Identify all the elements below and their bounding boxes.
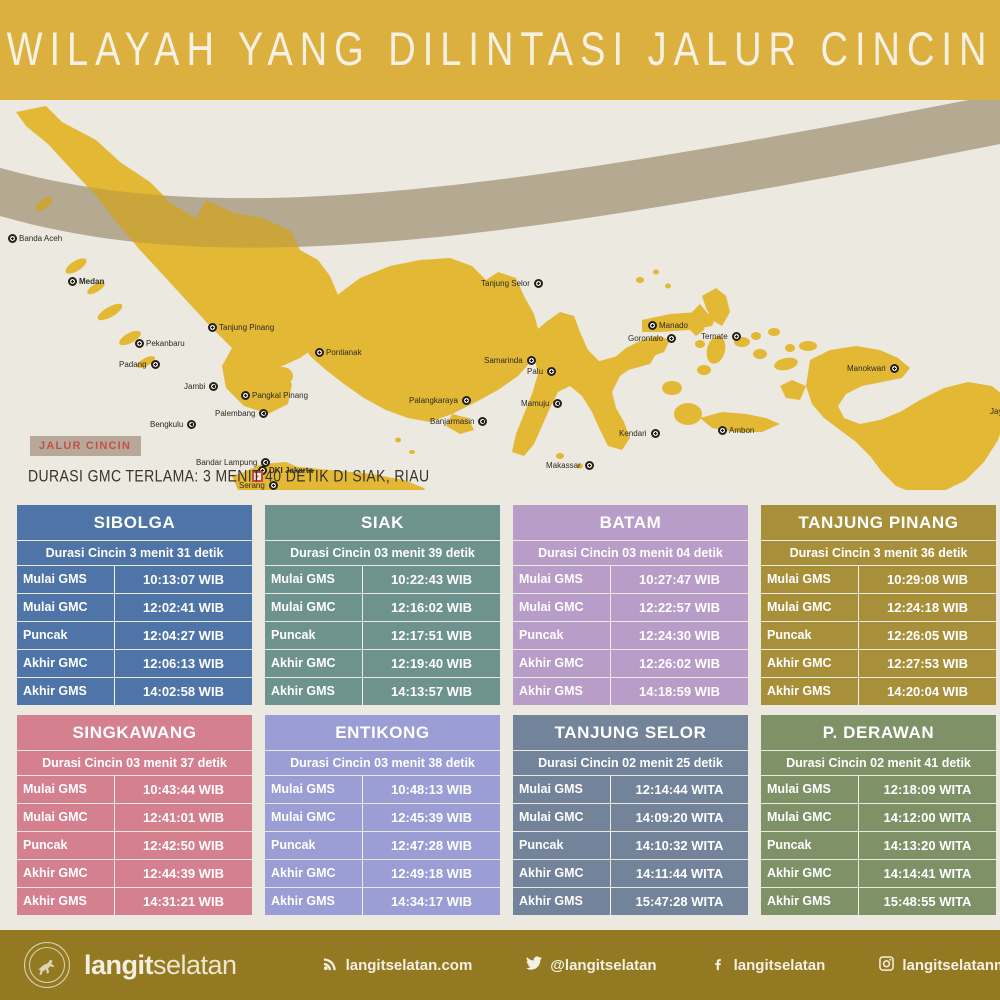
twitter-icon xyxy=(526,955,542,975)
city-label: Gorontalo xyxy=(628,334,663,343)
city-dot-icon xyxy=(241,391,250,400)
card-row: Mulai GMS12:14:44 WITA xyxy=(513,776,748,804)
row-label: Akhir GMC xyxy=(513,650,611,677)
city-dot-icon xyxy=(315,348,324,357)
city-marker: Ternate xyxy=(701,332,741,341)
page-header: WILAYAH YANG DILINTASI JALUR CINCIN xyxy=(0,0,1000,100)
row-value: 12:18:09 WITA xyxy=(859,776,996,803)
row-value: 12:26:02 WIB xyxy=(611,650,748,677)
city-label: Tanjung Pinang xyxy=(219,323,274,332)
card-duration: Durasi Cincin 02 menit 25 detik xyxy=(513,751,748,776)
city-marker: Tanjung Pinang xyxy=(208,323,274,332)
city-marker: Banda Aceh xyxy=(8,234,62,243)
row-label: Puncak xyxy=(761,832,859,859)
city-dot-icon xyxy=(667,334,676,343)
card-row: Akhir GMS14:18:59 WIB xyxy=(513,678,748,705)
row-label: Mulai GMC xyxy=(265,804,363,831)
city-marker: Pontianak xyxy=(315,348,362,357)
row-value: 10:29:08 WIB xyxy=(859,566,996,593)
city-marker: Jambi xyxy=(184,382,218,391)
city-label: Banda Aceh xyxy=(19,234,62,243)
city-label: Banjarmasin xyxy=(430,417,474,426)
row-label: Mulai GMC xyxy=(17,594,115,621)
row-value: 14:14:41 WITA xyxy=(859,860,996,887)
city-marker: Pekanbaru xyxy=(135,339,185,348)
card-title: P. DERAWAN xyxy=(761,715,996,751)
card-row: Puncak14:13:20 WITA xyxy=(761,832,996,860)
card-row: Mulai GMC12:02:41 WIB xyxy=(17,594,252,622)
city-dot-icon xyxy=(527,356,536,365)
city-dot-icon xyxy=(151,360,160,369)
city-dot-icon xyxy=(648,321,657,330)
row-value: 10:27:47 WIB xyxy=(611,566,748,593)
card-row: Akhir GMS15:47:28 WITA xyxy=(513,888,748,915)
city-label: Manokwari xyxy=(847,364,886,373)
row-value: 14:20:04 WIB xyxy=(859,678,996,705)
row-label: Akhir GMC xyxy=(265,650,363,677)
card-row: Akhir GMC14:14:41 WITA xyxy=(761,860,996,888)
row-label: Mulai GMS xyxy=(513,566,611,593)
city-label: Samarinda xyxy=(484,356,523,365)
card-row: Mulai GMS10:43:44 WIB xyxy=(17,776,252,804)
city-dot-icon xyxy=(547,367,556,376)
row-value: 12:24:18 WIB xyxy=(859,594,996,621)
city-marker: Makassar xyxy=(546,461,594,470)
city-label: Pontianak xyxy=(326,348,362,357)
row-label: Mulai GMC xyxy=(761,804,859,831)
row-value: 14:10:32 WITA xyxy=(611,832,748,859)
row-label: Akhir GMS xyxy=(761,678,859,705)
timing-card: TANJUNG PINANGDurasi Cincin 3 menit 36 d… xyxy=(761,505,996,705)
card-duration: Durasi Cincin 02 menit 41 detik xyxy=(761,751,996,776)
row-value: 14:13:57 WIB xyxy=(363,678,500,705)
city-label: Palangkaraya xyxy=(409,396,458,405)
city-dot-icon xyxy=(135,339,144,348)
city-marker: Kendari xyxy=(619,429,660,438)
city-marker: Mamuju xyxy=(521,399,562,408)
card-duration: Durasi Cincin 03 menit 39 detik xyxy=(265,541,500,566)
card-duration: Durasi Cincin 03 menit 38 detik xyxy=(265,751,500,776)
row-value: 12:44:39 WIB xyxy=(115,860,252,887)
footer-link[interactable]: @langitselatan xyxy=(526,955,656,975)
card-row: Mulai GMS10:29:08 WIB xyxy=(761,566,996,594)
city-marker: Manado xyxy=(648,321,688,330)
footer-link-label: @langitselatan xyxy=(550,957,656,974)
city-marker: Ambon xyxy=(718,426,754,435)
row-label: Mulai GMS xyxy=(265,776,363,803)
card-row: Akhir GMC12:06:13 WIB xyxy=(17,650,252,678)
city-label: Padang xyxy=(119,360,147,369)
card-title: SINGKAWANG xyxy=(17,715,252,751)
horse-rider-icon xyxy=(34,952,60,978)
row-label: Akhir GMS xyxy=(17,678,115,705)
city-timing-cards: SIBOLGADurasi Cincin 3 menit 31 detikMul… xyxy=(0,505,1000,915)
card-row: Akhir GMS14:31:21 WIB xyxy=(17,888,252,915)
row-value: 12:14:44 WITA xyxy=(611,776,748,803)
city-label: Jambi xyxy=(184,382,205,391)
card-title: BATAM xyxy=(513,505,748,541)
row-label: Mulai GMC xyxy=(513,804,611,831)
card-row: Akhir GMC12:44:39 WIB xyxy=(17,860,252,888)
row-value: 12:26:05 WIB xyxy=(859,622,996,649)
row-label: Akhir GMS xyxy=(761,888,859,915)
city-label: Bengkulu xyxy=(150,420,183,429)
city-dot-icon xyxy=(890,364,899,373)
card-row: Mulai GMS10:13:07 WIB xyxy=(17,566,252,594)
footer-link-label: langitselatan xyxy=(734,957,826,974)
legend-jalur-cincin: JALUR CINCIN xyxy=(30,436,141,456)
city-dot-icon xyxy=(534,279,543,288)
row-value: 12:42:50 WIB xyxy=(115,832,252,859)
city-label: Ternate xyxy=(701,332,728,341)
city-dot-icon xyxy=(68,277,77,286)
card-row: Mulai GMC14:12:00 WITA xyxy=(761,804,996,832)
footer-links: langitselatan.com@langitselatanlangitsel… xyxy=(323,955,1000,975)
footer-link-label: langitselatan.com xyxy=(346,957,473,974)
city-dot-icon xyxy=(8,234,17,243)
row-label: Akhir GMS xyxy=(513,888,611,915)
city-marker: Palu xyxy=(527,367,556,376)
footer-link[interactable]: langitselatan.com xyxy=(323,956,473,975)
city-dot-icon xyxy=(208,323,217,332)
city-marker: Bengkulu xyxy=(150,420,196,429)
city-marker: Tanjung Selor xyxy=(481,279,543,288)
city-label: Medan xyxy=(79,277,104,286)
timing-card: P. DERAWANDurasi Cincin 02 menit 41 deti… xyxy=(761,715,996,915)
row-label: Mulai GMS xyxy=(761,566,859,593)
row-label: Puncak xyxy=(513,832,611,859)
city-marker: Palangkaraya xyxy=(409,396,471,405)
city-marker: Samarinda xyxy=(484,356,536,365)
timing-card: SIAKDurasi Cincin 03 menit 39 detikMulai… xyxy=(265,505,500,705)
card-row: Akhir GMS15:48:55 WITA xyxy=(761,888,996,915)
city-marker: Medan xyxy=(68,277,104,286)
row-value: 12:45:39 WIB xyxy=(363,804,500,831)
card-row: Puncak12:04:27 WIB xyxy=(17,622,252,650)
city-dot-icon xyxy=(187,420,196,429)
card-row: Puncak14:10:32 WITA xyxy=(513,832,748,860)
card-title: SIAK xyxy=(265,505,500,541)
card-row: Mulai GMS10:27:47 WIB xyxy=(513,566,748,594)
card-row: Akhir GMC12:49:18 WIB xyxy=(265,860,500,888)
facebook-icon xyxy=(711,956,726,975)
card-row: Akhir GMC12:27:53 WIB xyxy=(761,650,996,678)
footer-link[interactable]: langitselatan xyxy=(711,956,826,975)
city-dot-icon xyxy=(259,409,268,418)
row-value: 12:22:57 WIB xyxy=(611,594,748,621)
row-value: 12:06:13 WIB xyxy=(115,650,252,677)
row-label: Mulai GMC xyxy=(17,804,115,831)
card-title: SIBOLGA xyxy=(17,505,252,541)
row-value: 14:13:20 WITA xyxy=(859,832,996,859)
city-marker: Jayapura xyxy=(990,407,1000,416)
row-value: 14:18:59 WIB xyxy=(611,678,748,705)
city-dot-icon xyxy=(462,396,471,405)
footer-link[interactable]: langitselatanmedia xyxy=(879,956,1000,975)
brand-bold: langit xyxy=(84,950,153,980)
city-label: Palu xyxy=(527,367,543,376)
card-title: ENTIKONG xyxy=(265,715,500,751)
row-label: Mulai GMS xyxy=(761,776,859,803)
row-label: Akhir GMC xyxy=(17,860,115,887)
card-duration: Durasi Cincin 03 menit 04 detik xyxy=(513,541,748,566)
city-marker: Banjarmasin xyxy=(430,417,487,426)
row-label: Mulai GMC xyxy=(265,594,363,621)
card-row: Mulai GMC12:41:01 WIB xyxy=(17,804,252,832)
row-value: 10:13:07 WIB xyxy=(115,566,252,593)
city-marker: Pangkal Pinang xyxy=(241,391,308,400)
row-value: 12:17:51 WIB xyxy=(363,622,500,649)
infographic-page: WILAYAH YANG DILINTASI JALUR CINCIN xyxy=(0,0,1000,1000)
row-value: 15:47:28 WITA xyxy=(611,888,748,915)
city-label: Jayapura xyxy=(990,407,1000,416)
city-label: Mamuju xyxy=(521,399,549,408)
row-value: 14:12:00 WITA xyxy=(859,804,996,831)
row-label: Mulai GMS xyxy=(265,566,363,593)
timing-card: SINGKAWANGDurasi Cincin 03 menit 37 deti… xyxy=(17,715,252,915)
timing-card: BATAMDurasi Cincin 03 menit 04 detikMula… xyxy=(513,505,748,705)
row-value: 10:43:44 WIB xyxy=(115,776,252,803)
card-title: TANJUNG SELOR xyxy=(513,715,748,751)
page-title: WILAYAH YANG DILINTASI JALUR CINCIN xyxy=(7,23,994,77)
row-label: Mulai GMS xyxy=(513,776,611,803)
card-row: Akhir GMS14:13:57 WIB xyxy=(265,678,500,705)
row-label: Puncak xyxy=(265,622,363,649)
card-duration: Durasi Cincin 3 menit 31 detik xyxy=(17,541,252,566)
map-caption: DURASI GMC TERLAMA: 3 MENIT 40 DETIK DI … xyxy=(28,466,429,485)
row-value: 10:48:13 WIB xyxy=(363,776,500,803)
row-label: Akhir GMS xyxy=(265,678,363,705)
city-dot-icon xyxy=(732,332,741,341)
city-label: Makassar xyxy=(546,461,581,470)
row-value: 12:27:53 WIB xyxy=(859,650,996,677)
card-row: Puncak12:47:28 WIB xyxy=(265,832,500,860)
eclipse-path-band-overlay xyxy=(0,100,1000,248)
row-value: 12:49:18 WIB xyxy=(363,860,500,887)
row-value: 10:22:43 WIB xyxy=(363,566,500,593)
row-value: 14:34:17 WIB xyxy=(363,888,500,915)
city-dot-icon xyxy=(209,382,218,391)
card-row: Akhir GMS14:20:04 WIB xyxy=(761,678,996,705)
city-dot-icon xyxy=(478,417,487,426)
row-label: Mulai GMS xyxy=(17,566,115,593)
card-row: Puncak12:42:50 WIB xyxy=(17,832,252,860)
row-label: Akhir GMC xyxy=(17,650,115,677)
row-value: 14:09:20 WITA xyxy=(611,804,748,831)
city-dot-icon xyxy=(718,426,727,435)
timing-card: ENTIKONGDurasi Cincin 03 menit 38 detikM… xyxy=(265,715,500,915)
row-label: Akhir GMS xyxy=(513,678,611,705)
indonesia-map xyxy=(0,100,1000,490)
city-marker: Manokwari xyxy=(847,364,899,373)
footer-link-label: langitselatanmedia xyxy=(902,957,1000,974)
row-label: Puncak xyxy=(265,832,363,859)
card-row: Mulai GMC12:45:39 WIB xyxy=(265,804,500,832)
city-marker: Padang xyxy=(119,360,160,369)
row-value: 14:31:21 WIB xyxy=(115,888,252,915)
card-row: Puncak12:26:05 WIB xyxy=(761,622,996,650)
card-row: Mulai GMS10:48:13 WIB xyxy=(265,776,500,804)
card-row: Akhir GMC12:19:40 WIB xyxy=(265,650,500,678)
row-label: Akhir GMC xyxy=(265,860,363,887)
city-label: Kendari xyxy=(619,429,647,438)
city-dot-icon xyxy=(585,461,594,470)
row-label: Akhir GMS xyxy=(265,888,363,915)
city-label: Ambon xyxy=(729,426,754,435)
rss-icon xyxy=(323,956,338,975)
card-row: Mulai GMC12:22:57 WIB xyxy=(513,594,748,622)
brand-wordmark: langitselatan xyxy=(84,950,237,981)
row-value: 14:02:58 WIB xyxy=(115,678,252,705)
city-dot-icon xyxy=(553,399,562,408)
card-row: Akhir GMS14:34:17 WIB xyxy=(265,888,500,915)
city-label: Pekanbaru xyxy=(146,339,185,348)
city-marker: Palembang xyxy=(215,409,268,418)
card-title: TANJUNG PINANG xyxy=(761,505,996,541)
card-row: Akhir GMS14:02:58 WIB xyxy=(17,678,252,705)
card-row: Mulai GMS10:22:43 WIB xyxy=(265,566,500,594)
legend-label: JALUR CINCIN xyxy=(39,440,131,452)
card-row: Mulai GMC12:16:02 WIB xyxy=(265,594,500,622)
card-row: Akhir GMC12:26:02 WIB xyxy=(513,650,748,678)
langitselatan-seal-logo xyxy=(24,942,70,988)
row-label: Akhir GMC xyxy=(513,860,611,887)
card-row: Mulai GMC14:09:20 WITA xyxy=(513,804,748,832)
row-label: Puncak xyxy=(17,832,115,859)
row-value: 12:02:41 WIB xyxy=(115,594,252,621)
row-value: 12:41:01 WIB xyxy=(115,804,252,831)
timing-card: TANJUNG SELORDurasi Cincin 02 menit 25 d… xyxy=(513,715,748,915)
card-row: Puncak12:24:30 WIB xyxy=(513,622,748,650)
row-label: Akhir GMC xyxy=(761,650,859,677)
row-value: 14:11:44 WITA xyxy=(611,860,748,887)
card-row: Mulai GMS12:18:09 WITA xyxy=(761,776,996,804)
row-value: 12:47:28 WIB xyxy=(363,832,500,859)
row-value: 12:16:02 WIB xyxy=(363,594,500,621)
card-duration: Durasi Cincin 3 menit 36 detik xyxy=(761,541,996,566)
card-row: Akhir GMC14:11:44 WITA xyxy=(513,860,748,888)
page-footer: langitselatan langitselatan.com@langitse… xyxy=(0,930,1000,1000)
row-label: Puncak xyxy=(761,622,859,649)
city-label: Tanjung Selor xyxy=(481,279,530,288)
card-duration: Durasi Cincin 03 menit 37 detik xyxy=(17,751,252,776)
row-label: Mulai GMC xyxy=(761,594,859,621)
row-value: 12:19:40 WIB xyxy=(363,650,500,677)
timing-card: SIBOLGADurasi Cincin 3 menit 31 detikMul… xyxy=(17,505,252,705)
card-row: Puncak12:17:51 WIB xyxy=(265,622,500,650)
row-value: 12:04:27 WIB xyxy=(115,622,252,649)
row-label: Mulai GMC xyxy=(513,594,611,621)
row-value: 15:48:55 WITA xyxy=(859,888,996,915)
city-label: Manado xyxy=(659,321,688,330)
row-label: Puncak xyxy=(17,622,115,649)
city-marker: Gorontalo xyxy=(628,334,676,343)
row-label: Akhir GMC xyxy=(761,860,859,887)
card-row: Mulai GMC12:24:18 WIB xyxy=(761,594,996,622)
row-label: Puncak xyxy=(513,622,611,649)
brand-light: selatan xyxy=(153,950,237,980)
instagram-icon xyxy=(879,956,894,975)
city-label: Palembang xyxy=(215,409,255,418)
city-label: Pangkal Pinang xyxy=(252,391,308,400)
row-label: Akhir GMS xyxy=(17,888,115,915)
map-region: Banda AcehMedanTanjung PinangPekanbaruPa… xyxy=(0,100,1000,490)
row-value: 12:24:30 WIB xyxy=(611,622,748,649)
city-dot-icon xyxy=(651,429,660,438)
row-label: Mulai GMS xyxy=(17,776,115,803)
